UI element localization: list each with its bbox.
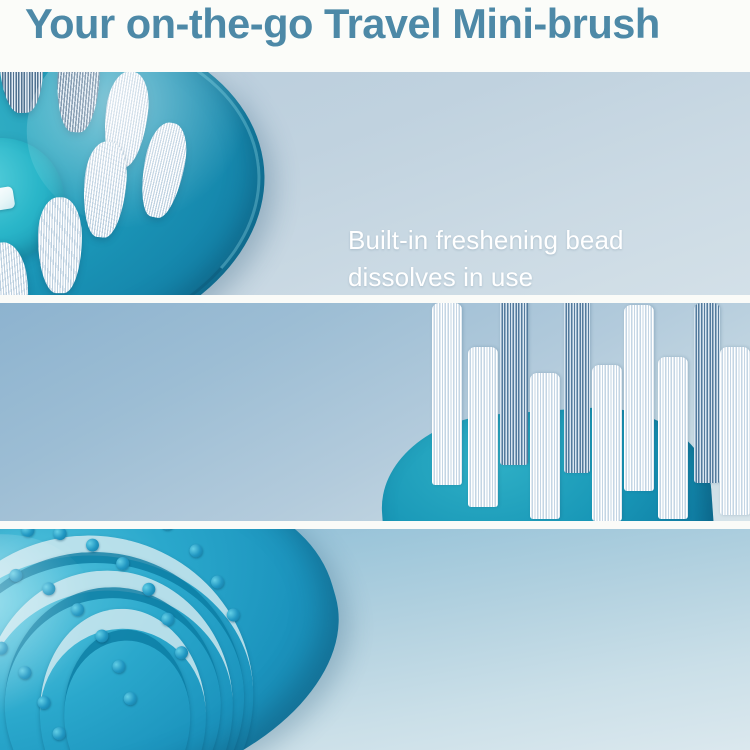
bristle-tuft	[0, 240, 33, 295]
feature-panel-medium-bristles: Medium bristles for superior cleaning	[0, 303, 750, 521]
page-title: Your on-the-go Travel Mini-brush	[25, 2, 724, 46]
toothbrush-bristles-side-view-image	[0, 303, 750, 521]
bristle-tuft	[564, 303, 590, 473]
bristle-tuft	[658, 357, 688, 519]
panel-caption-freshening-bead: Built-in freshening bead dissolves in us…	[348, 222, 718, 295]
cleaner-dot	[209, 574, 225, 590]
bristle-tuft	[0, 72, 45, 114]
bristle-tuft	[530, 373, 560, 519]
bristle-tuft	[468, 347, 498, 507]
cleaner-dot	[159, 529, 175, 532]
cleaner-dot	[188, 543, 204, 559]
bristle-tuft	[38, 197, 82, 293]
bristle-tuft	[99, 72, 152, 170]
bristle-tuft	[80, 140, 130, 239]
feature-panel-freshening-bead: Built-in freshening bead dissolves in us…	[0, 72, 750, 295]
bristle-tuft	[720, 347, 750, 515]
bristle-tuft	[694, 303, 720, 483]
tongue-cleaner-image	[0, 529, 750, 750]
header-bar: Your on-the-go Travel Mini-brush	[0, 0, 750, 72]
feature-panel-tongue-cheek-cleaner: Quadruple Tongue & Cheek Cleaner, remove…	[0, 529, 750, 750]
freshening-bead-dome	[0, 129, 73, 271]
brush-head-shape	[0, 72, 288, 295]
freshening-bead	[0, 186, 15, 211]
head-gloss	[12, 72, 270, 244]
cleaner-dot	[20, 529, 36, 538]
bristle-tuft	[432, 303, 462, 485]
bristle-tuft	[592, 365, 622, 521]
bristle-tuft	[55, 72, 102, 133]
product-feature-infographic: Your on-the-go Travel Mini-brush	[0, 0, 750, 750]
bristle-tuft	[135, 119, 193, 221]
bristle-tuft	[500, 303, 528, 465]
bristle-tuft	[624, 305, 654, 491]
tongue-cleaner-shape	[0, 529, 372, 750]
